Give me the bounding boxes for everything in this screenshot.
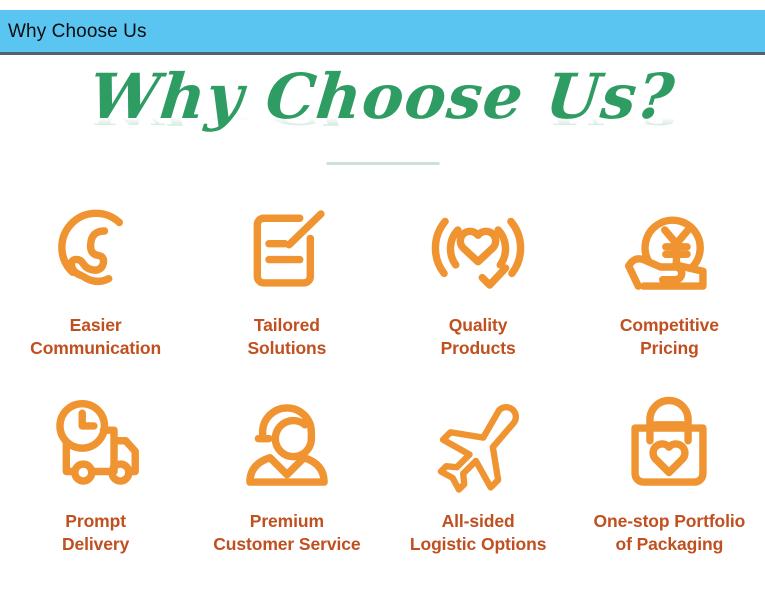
truck-clock-icon — [43, 392, 149, 498]
feature-card-premium-customer-service[interactable]: Premium Customer Service — [191, 382, 382, 578]
hero-divider — [326, 162, 439, 165]
feature-card-logistic-options[interactable]: All-sided Logistic Options — [383, 382, 574, 578]
feature-label: Quality Products — [441, 314, 516, 360]
airplane-icon — [425, 392, 531, 498]
feature-label: Premium Customer Service — [213, 510, 360, 556]
feature-grid: Easier Communication Tailored Solutions — [0, 186, 765, 578]
feature-card-prompt-delivery[interactable]: Prompt Delivery — [0, 382, 191, 578]
titlebar-background: Why Choose Us — [0, 10, 765, 52]
feature-label: All-sided Logistic Options — [410, 510, 546, 556]
heart-signal-check-icon — [425, 196, 531, 302]
titlebar-underline — [0, 52, 765, 55]
feature-label: One-stop Portfolio of Packaging — [593, 510, 745, 556]
ear-listening-icon — [43, 196, 149, 302]
window-title: Why Choose Us — [8, 22, 147, 41]
shopping-bag-heart-icon — [616, 392, 722, 498]
page-title-reflection: Why Choose Us? — [0, 117, 765, 128]
hand-yen-coin-icon — [616, 196, 722, 302]
feature-card-easier-communication[interactable]: Easier Communication — [0, 186, 191, 382]
feature-label: Easier Communication — [30, 314, 161, 360]
feature-label: Competitive Pricing — [620, 314, 719, 360]
feature-label: Tailored Solutions — [247, 314, 326, 360]
feature-card-tailored-solutions[interactable]: Tailored Solutions — [191, 186, 382, 382]
feature-card-quality-products[interactable]: Quality Products — [383, 186, 574, 382]
feature-card-packaging-portfolio[interactable]: One-stop Portfolio of Packaging — [574, 382, 765, 578]
hero-section: Why Choose Us? Why Choose Us? — [0, 60, 765, 175]
feature-card-competitive-pricing[interactable]: Competitive Pricing — [574, 186, 765, 382]
headset-person-icon — [234, 392, 340, 498]
feature-label: Prompt Delivery — [62, 510, 129, 556]
window-titlebar: Why Choose Us — [0, 10, 765, 54]
document-pen-icon — [234, 196, 340, 302]
